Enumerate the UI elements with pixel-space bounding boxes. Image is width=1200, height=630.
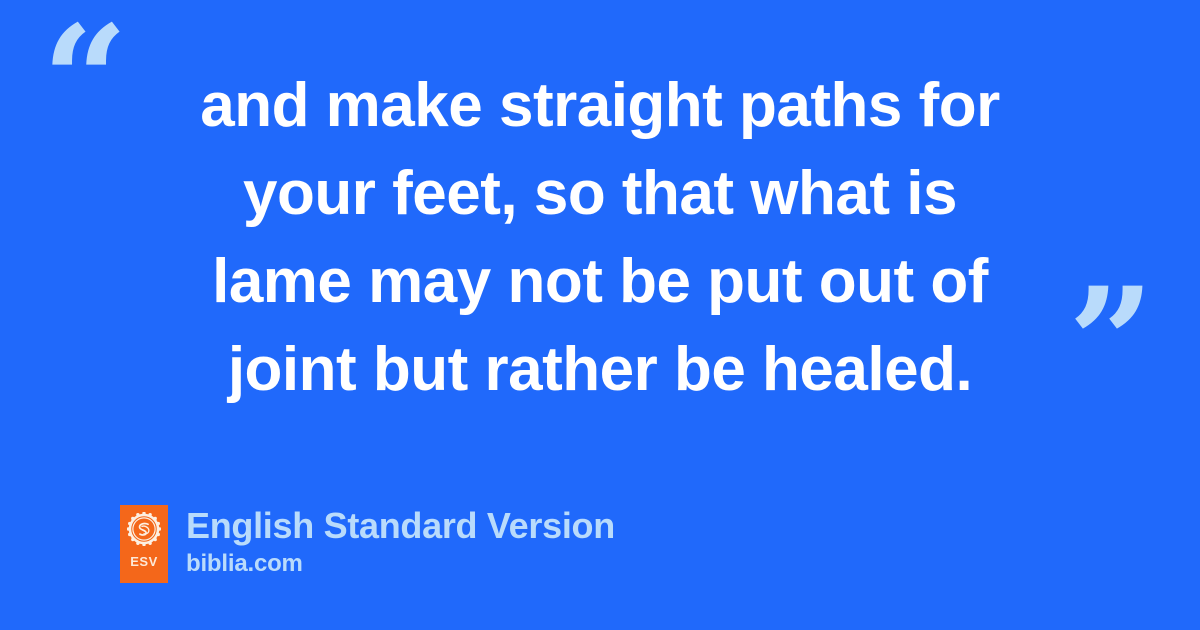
quote-text-block: and make straight paths for your feet, s…	[120, 62, 1080, 414]
quote-line: your feet, so that what is	[120, 150, 1080, 238]
attribution: ESV English Standard Version biblia.com	[120, 505, 615, 583]
esv-seal-icon	[127, 512, 161, 546]
attribution-text: English Standard Version biblia.com	[186, 505, 615, 578]
esv-logo-label: ESV	[130, 555, 158, 568]
site-url-link[interactable]: biblia.com	[186, 550, 615, 578]
quote-line: joint but rather be healed.	[120, 326, 1080, 414]
opening-quote-icon: “	[42, 6, 128, 156]
bible-verse-card: “ and make straight paths for your feet,…	[0, 0, 1200, 630]
esv-logo[interactable]: ESV	[120, 505, 168, 583]
quote-line: and make straight paths for	[120, 62, 1080, 150]
bible-version-name: English Standard Version	[186, 506, 615, 546]
closing-quote-icon: ”	[1068, 268, 1154, 418]
quote-line: lame may not be put out of	[120, 238, 1080, 326]
